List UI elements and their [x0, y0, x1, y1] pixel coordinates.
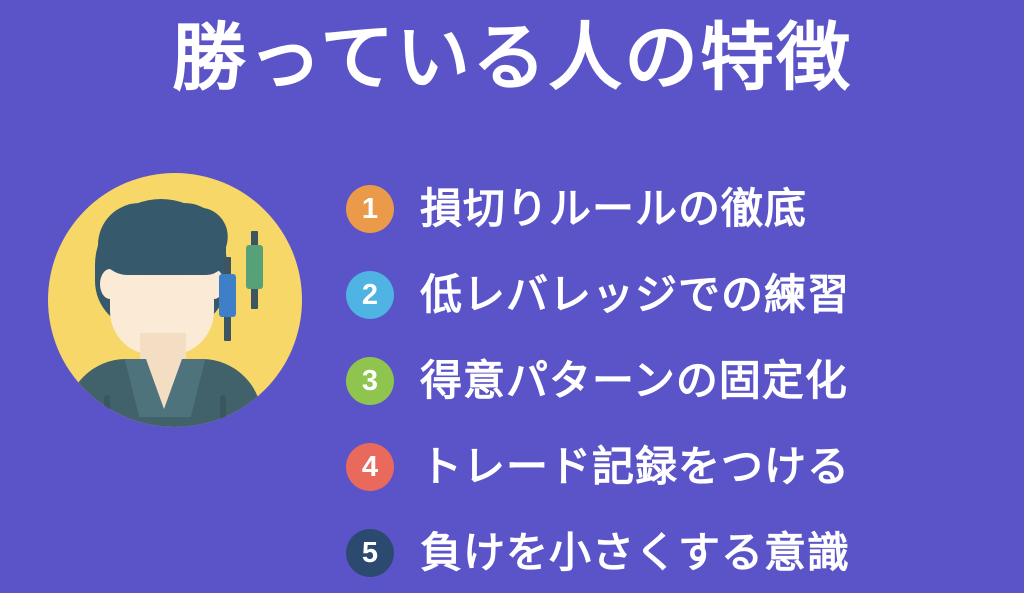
list-item-label-3: 得意パターンの固定化: [420, 358, 848, 404]
list-item: 3 得意パターンの固定化: [346, 338, 986, 424]
candlestick-blue-icon: [219, 274, 236, 317]
list-item-label-2: 低レバレッジでの練習: [420, 272, 850, 318]
candlestick-green-icon: [246, 245, 263, 289]
list-item-badge-3: 3: [346, 357, 394, 405]
avatar-sleeve-seam-left: [104, 395, 110, 427]
list-item: 1 損切りルールの徹底: [346, 166, 986, 252]
avatar-sleeve-seam-right: [220, 395, 226, 427]
list-item-badge-1: 1: [346, 185, 394, 233]
list-item-badge-4: 4: [346, 443, 394, 491]
list-item-label-5: 負けを小さくする意識: [420, 530, 850, 576]
infographic-slide: 勝っている人の特徴 1 損切りルールの徹底 2: [0, 0, 1024, 593]
list-item: 2 低レバレッジでの練習: [346, 252, 986, 338]
list-item-label-4: トレード記録をつける: [420, 444, 850, 490]
avatar: [48, 173, 302, 427]
list-item-label-1: 損切りルールの徹底: [420, 186, 807, 232]
avatar-circle-background: [48, 173, 302, 427]
page-title: 勝っている人の特徴: [0, 14, 1024, 101]
list-item-badge-5: 5: [346, 529, 394, 577]
list-item: 4 トレード記録をつける: [346, 424, 986, 510]
list-item-badge-2: 2: [346, 271, 394, 319]
feature-list: 1 損切りルールの徹底 2 低レバレッジでの練習 3 得意パターンの固定化 4 …: [346, 166, 986, 593]
avatar-ear-left: [100, 269, 120, 299]
list-item: 5 負けを小さくする意識: [346, 510, 986, 593]
